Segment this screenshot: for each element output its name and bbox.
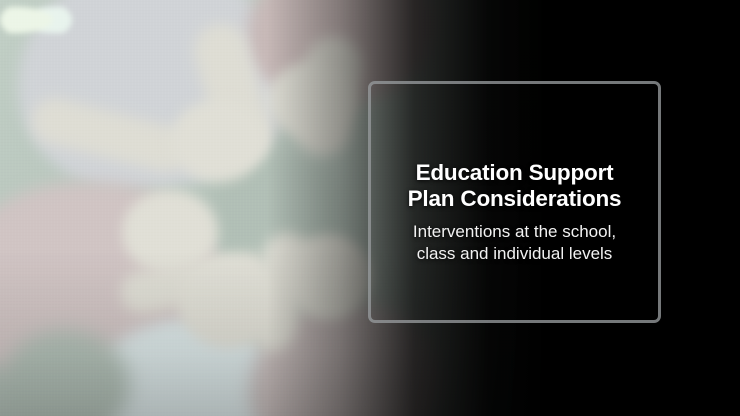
page-subtitle: Interventions at the school, class and i… [368, 221, 661, 265]
page-subtitle-line-2: class and individual levels [368, 243, 661, 265]
title-slide: Education Support Plan Considerations In… [0, 0, 740, 416]
slide-text-block: Education Support Plan Considerations In… [368, 160, 661, 265]
page-subtitle-line-1: Interventions at the school, [368, 221, 661, 243]
page-title-line-2: Plan Considerations [368, 186, 661, 212]
page-title-line-1: Education Support [368, 160, 661, 186]
